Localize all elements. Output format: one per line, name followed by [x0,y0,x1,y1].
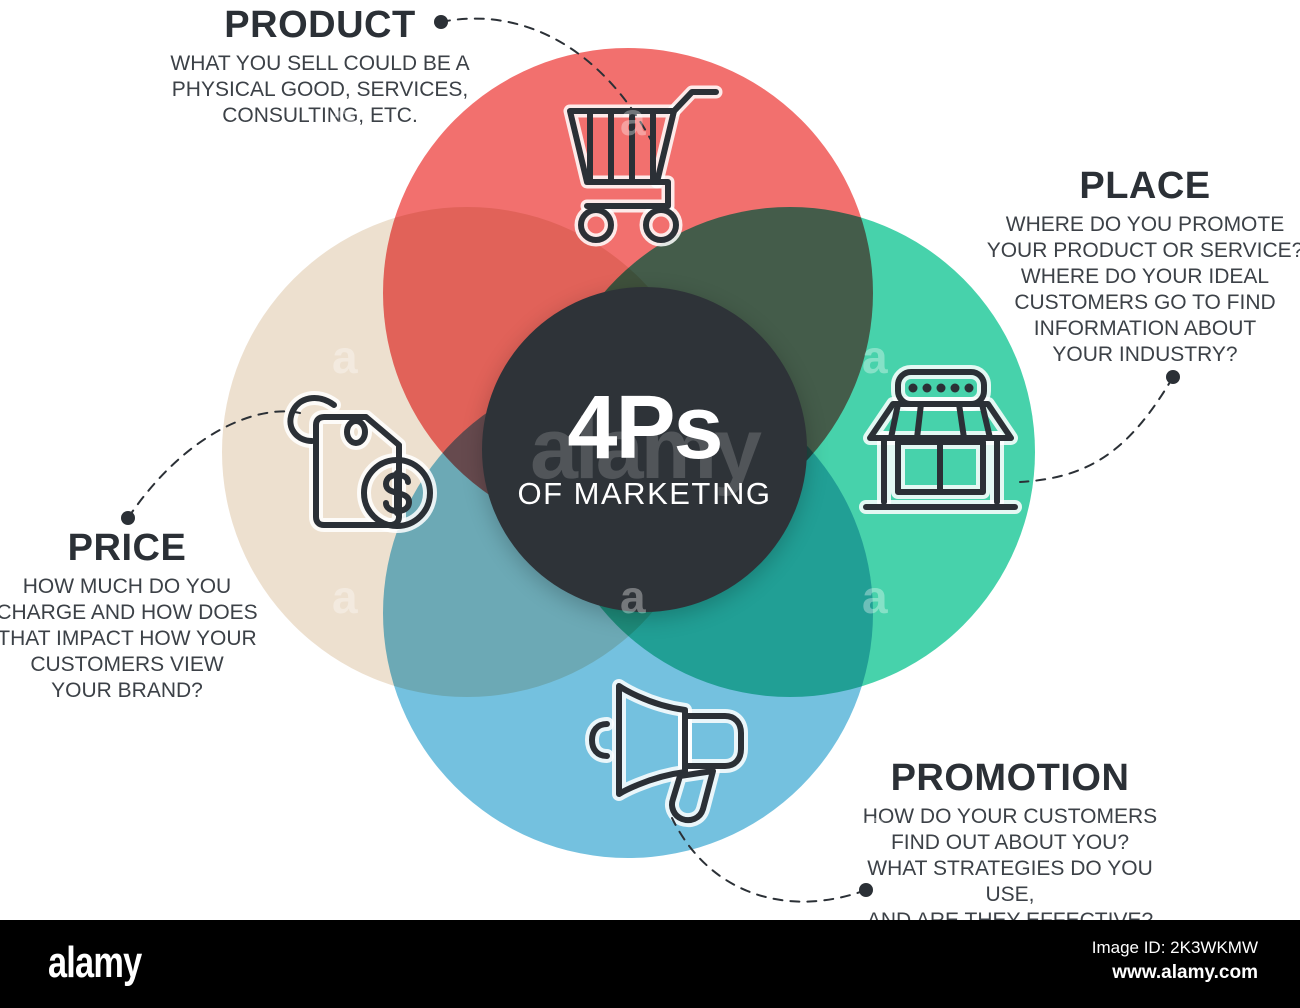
section-price[interactable]: PRICE HOW MUCH DO YOU CHARGE AND HOW DOE… [0,527,262,704]
section-body-price: HOW MUCH DO YOU CHARGE AND HOW DOES THAT… [0,574,262,704]
section-product[interactable]: PRODUCT WHAT YOU SELL COULD BE A PHYSICA… [160,4,480,129]
center-subtitle: OF MARKETING [518,476,772,512]
shopping-cart-icon [556,78,736,253]
alamy-logo: alamy [48,938,141,988]
section-title-price: PRICE [0,527,262,570]
section-body-promotion: HOW DO YOUR CUSTOMERS FIND OUT ABOUT YOU… [850,804,1170,920]
center-title: 4Ps [567,387,721,470]
footer-url: www.alamy.com [1092,962,1258,984]
center-disc[interactable]: 4Ps OF MARKETING [482,287,807,612]
megaphone-icon [585,672,760,832]
section-title-product: PRODUCT [160,4,480,47]
section-body-place: WHERE DO YOU PROMOTE YOUR PRODUCT OR SER… [980,212,1300,368]
section-title-place: PLACE [980,165,1300,208]
infographic-canvas: 4Ps OF MARKETING PRODUCT WHAT YOU SELL C… [0,0,1300,920]
section-promotion[interactable]: PROMOTION HOW DO YOUR CUSTOMERS FIND OUT… [850,757,1170,920]
footer-meta: Image ID: 2K3WKMW www.alamy.com [1092,938,1258,984]
price-tag-icon [278,383,448,538]
storefront-icon [858,360,1023,520]
section-title-promotion: PROMOTION [850,757,1170,800]
footer-image-id: Image ID: 2K3WKMW [1092,938,1258,958]
alamy-footer-bar: alamy Image ID: 2K3WKMW www.alamy.com [0,920,1300,1008]
section-place[interactable]: PLACE WHERE DO YOU PROMOTE YOUR PRODUCT … [980,165,1300,368]
section-body-product: WHAT YOU SELL COULD BE A PHYSICAL GOOD, … [160,51,480,129]
